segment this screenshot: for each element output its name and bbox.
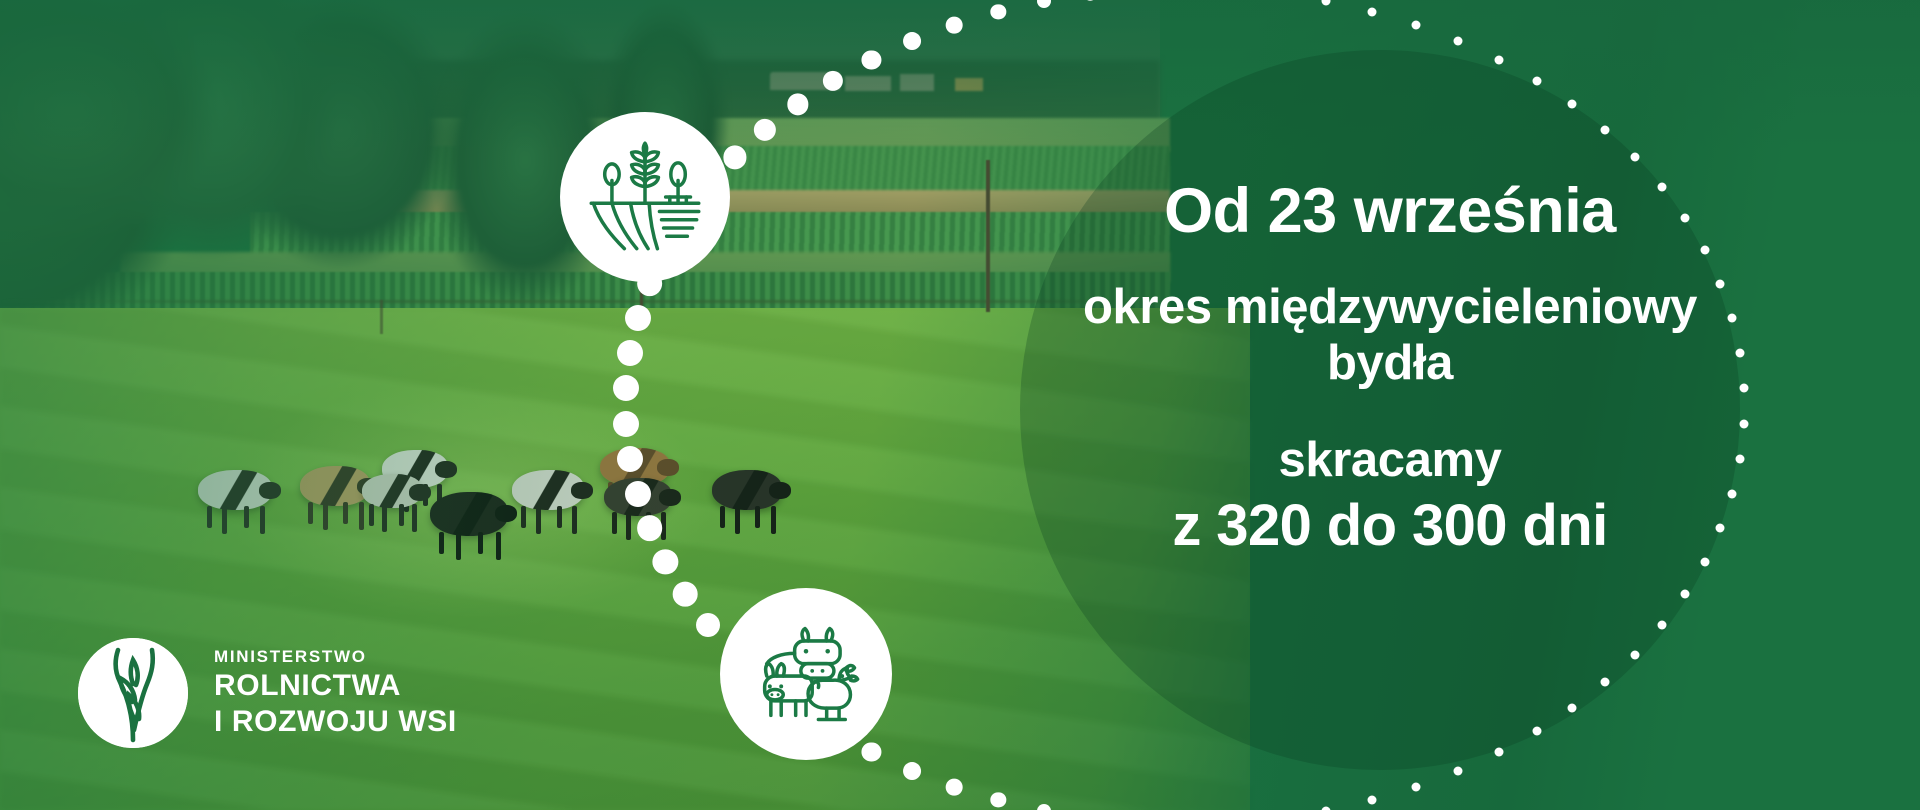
green-top-fade <box>0 0 1920 150</box>
ministry-logo-line-1: MINISTERSTWO <box>214 646 457 667</box>
ministry-logo: MINISTERSTWO ROLNICTWA I ROZWOJU WSI <box>78 638 457 748</box>
grain-leaf-emblem-icon <box>78 638 188 748</box>
ministry-logo-text: MINISTERSTWO ROLNICTWA I ROZWOJU WSI <box>214 646 457 739</box>
headline-line-2a: okres międzywycieleniowy <box>1083 280 1697 334</box>
headline-line-3: skracamy <box>1040 434 1740 488</box>
headline-block: Od 23 września okres międzywycieleniowy … <box>1040 178 1740 558</box>
headline-line-4: z 320 do 300 dni <box>1040 494 1740 558</box>
headline-line-1: Od 23 września <box>1040 178 1740 244</box>
ministry-logo-line-3: I ROZWOJU WSI <box>214 704 457 740</box>
headline-line-2b: bydła <box>1040 336 1740 392</box>
crops-field-icon <box>560 112 730 282</box>
farm-animals-icon <box>720 588 892 760</box>
ministry-promo-banner: Od 23 września okres międzywycieleniowy … <box>0 0 1920 810</box>
headline-line-2: okres międzywycieleniowy bydła <box>1040 280 1740 392</box>
ministry-logo-line-2: ROLNICTWA <box>214 668 457 704</box>
